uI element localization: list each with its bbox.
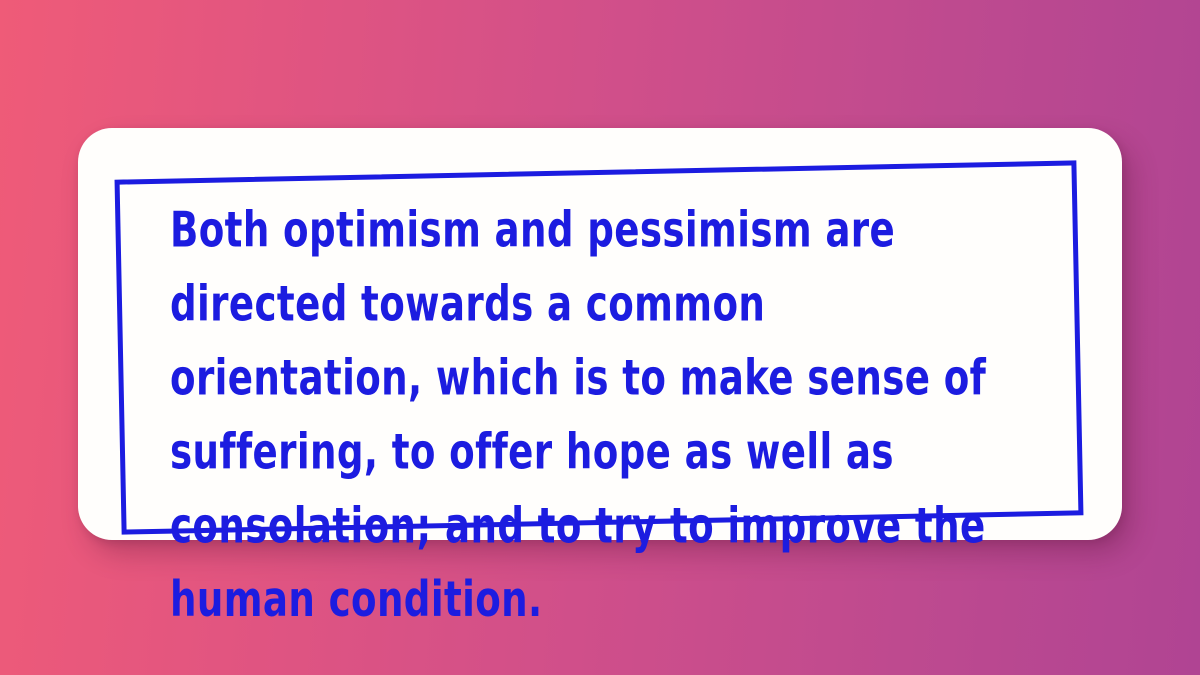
quote-card-stage: Both optimism and pessimism are directed… — [0, 0, 1200, 675]
quote-card: Both optimism and pessimism are directed… — [78, 128, 1122, 540]
quote-text: Both optimism and pessimism are directed… — [170, 194, 1007, 638]
